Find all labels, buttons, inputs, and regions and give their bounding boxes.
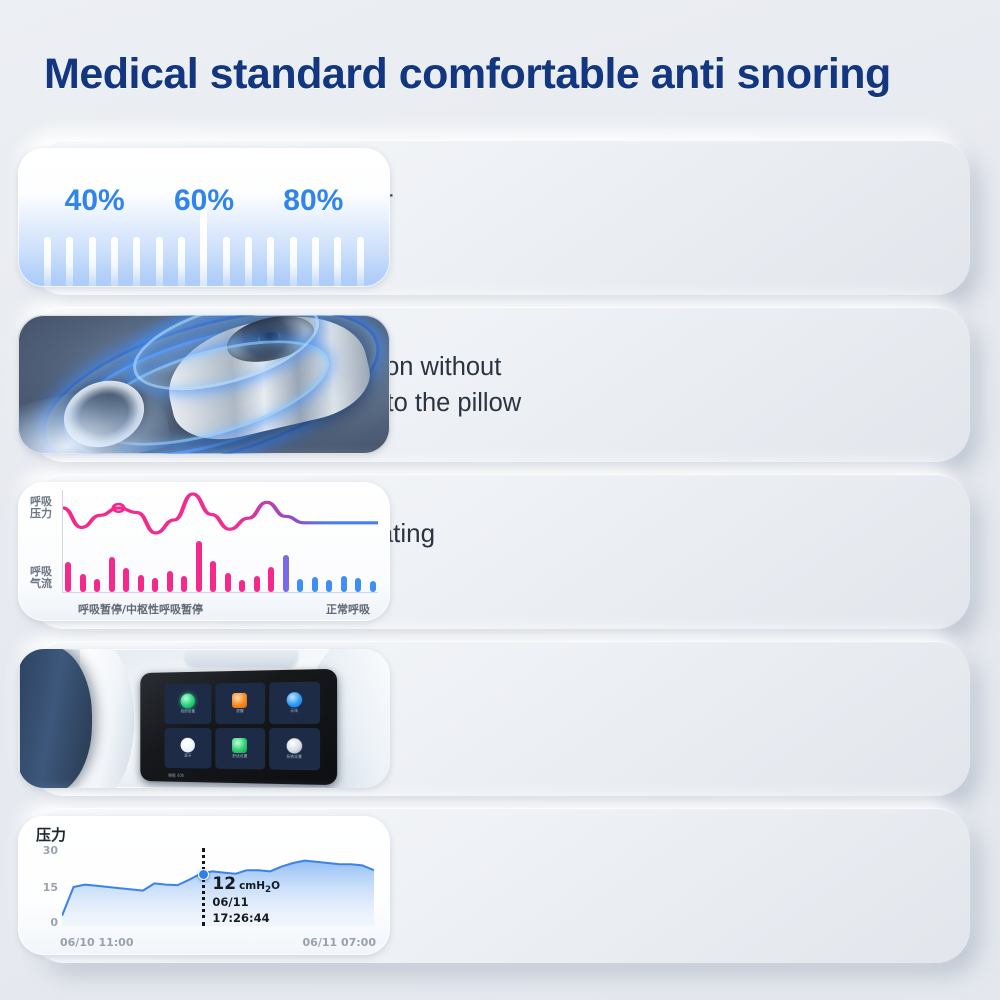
app-tile-wifi[interactable]: 无线	[269, 682, 320, 724]
infographic-page: Medical standard comfortable anti snorin…	[0, 0, 1000, 1000]
humidity-tick[interactable]	[66, 237, 73, 287]
airflow-bar	[254, 576, 260, 592]
airflow-bar	[80, 574, 86, 592]
wifi-icon	[286, 692, 302, 707]
report-ytick-30: 30	[43, 844, 58, 857]
app-tile-label: 无线	[290, 710, 298, 714]
airflow-bar	[297, 579, 303, 592]
humidity-tick[interactable]	[245, 237, 252, 287]
airflow-bar	[341, 576, 347, 592]
orange-alert-icon	[233, 693, 248, 708]
report-y-axis: 30 15 0	[32, 848, 58, 926]
report-ytick-0: 0	[50, 916, 58, 929]
humidity-tick[interactable]	[156, 237, 163, 287]
app-grid[interactable]: 我的设置提醒无线蓝牙舒适设置系统设置	[165, 682, 321, 771]
device-top-button[interactable]	[183, 650, 299, 670]
airflow-bar	[283, 555, 289, 592]
humidity-tick[interactable]	[178, 237, 185, 287]
humidity-label-40: 40%	[65, 184, 125, 218]
airflow-bar	[210, 561, 216, 592]
airflow-bar	[181, 576, 187, 592]
screen-footer-label: 睡眠 40h	[168, 773, 184, 779]
airflow-bar	[312, 577, 318, 592]
tooltip-value: 12	[212, 874, 236, 894]
breathing-airflow-bars	[65, 541, 376, 592]
page-title: Medical standard comfortable anti snorin…	[44, 50, 964, 99]
chart-xlabels: 呼吸暂停/中枢性呼吸暂停 正常呼吸	[62, 601, 380, 617]
app-tile-green-circle[interactable]: 我的设置	[165, 683, 212, 724]
airflow-bar	[239, 580, 245, 592]
humidity-tick[interactable]	[267, 237, 274, 287]
tooltip-time: 17:26:44	[212, 911, 280, 927]
app-tile-orange-alert[interactable]: 提醒	[216, 682, 265, 724]
tooltip-unit: cmH2O	[239, 880, 280, 892]
report-plot-area: 12cmH2O 06/11 17:26:44	[62, 848, 374, 926]
humidity-tick[interactable]	[312, 237, 319, 287]
airflow-bar	[94, 579, 100, 592]
airflow-bar	[138, 575, 144, 592]
report-tooltip: 12cmH2O 06/11 17:26:44	[212, 874, 280, 926]
humidity-tick[interactable]	[89, 237, 96, 287]
humidity-tick[interactable]	[357, 237, 364, 287]
humidity-tick[interactable]	[290, 237, 297, 287]
humidity-tick[interactable]	[133, 237, 140, 287]
app-tile-label: 系统设置	[286, 756, 302, 760]
device-side-panel	[20, 649, 92, 788]
feature-card-humidification: Dynamic humidification fordry mouth and …	[30, 140, 970, 295]
airflow-bar	[65, 562, 71, 592]
airflow-bar	[355, 578, 361, 592]
humidity-slider-panel: 40% 60% 80%	[18, 148, 390, 287]
airflow-bar	[268, 567, 274, 593]
feature-card-pressure-regulating: Intelligent pressure regulatingclean air…	[30, 474, 970, 629]
app-tile-green-camera[interactable]: 舒适设置	[216, 728, 265, 769]
humidity-tick[interactable]	[111, 237, 118, 287]
humidity-label-80: 80%	[283, 184, 343, 218]
app-tile-label: 舒适设置	[232, 755, 247, 759]
airflow-bar	[167, 571, 173, 592]
airflow-bar	[225, 573, 231, 592]
turbine-motor-photo	[18, 315, 390, 454]
sleep-report-chart: 压力 30 15 0	[18, 816, 390, 955]
feature-card-online-reports: Online reports track sleepdata at any ti…	[30, 808, 970, 963]
humidity-tick-scale[interactable]	[44, 215, 364, 287]
airflow-bar	[123, 568, 129, 592]
airflow-bar	[152, 578, 158, 592]
humidity-tick-selected[interactable]	[200, 209, 207, 287]
breathing-pressure-wave	[63, 490, 378, 537]
report-x-axis: 06/10 11:00 06/11 07:00	[60, 936, 376, 949]
report-xtick-end: 06/11 07:00	[303, 936, 376, 949]
cpap-device-touchscreen: 我的设置提醒无线蓝牙舒适设置系统设置 睡眠 40h	[18, 649, 390, 788]
humidity-tick[interactable]	[44, 237, 51, 287]
app-tile-label: 蓝牙	[184, 755, 191, 759]
chart-ylabel-airflow: 呼吸气流	[26, 566, 56, 590]
report-cursor-line[interactable]	[202, 848, 205, 926]
chart-xlabel-normal: 正常呼吸	[326, 601, 370, 617]
pressure-flow-chart: 呼吸压力 呼吸气流	[18, 482, 390, 621]
humidity-tick[interactable]	[334, 237, 341, 287]
app-tile-gear[interactable]: 系统设置	[269, 728, 320, 770]
report-ytick-15: 15	[43, 881, 58, 894]
green-camera-icon	[233, 738, 248, 753]
airflow-bar	[370, 581, 376, 592]
tooltip-date: 06/11	[212, 895, 280, 911]
bluetooth-icon	[181, 738, 195, 753]
green-circle-icon	[181, 694, 195, 709]
report-chart-title: 压力	[36, 824, 66, 845]
chart-plot-area	[62, 490, 378, 593]
chart-xlabel-apnea: 呼吸暂停/中枢性呼吸暂停	[78, 601, 203, 617]
app-tile-label: 我的设置	[181, 710, 196, 714]
chart-ylabel-pressure: 呼吸压力	[26, 496, 56, 520]
screen-bezel: 我的设置提醒无线蓝牙舒适设置系统设置 睡眠 40h	[140, 669, 337, 785]
airflow-bar	[196, 541, 202, 592]
feature-card-noise-reduction: Stereoscopic noise reduction withoutdist…	[30, 307, 970, 462]
report-xtick-start: 06/10 11:00	[60, 936, 133, 949]
gear-icon	[286, 738, 302, 753]
app-tile-bluetooth[interactable]: 蓝牙	[165, 728, 212, 769]
humidity-tick[interactable]	[223, 237, 230, 287]
feature-card-touch-screen: Big touch color screen,friendly to elder…	[30, 641, 970, 796]
airflow-bar	[326, 580, 332, 592]
airflow-bar	[109, 557, 115, 592]
app-tile-label: 提醒	[236, 710, 244, 714]
